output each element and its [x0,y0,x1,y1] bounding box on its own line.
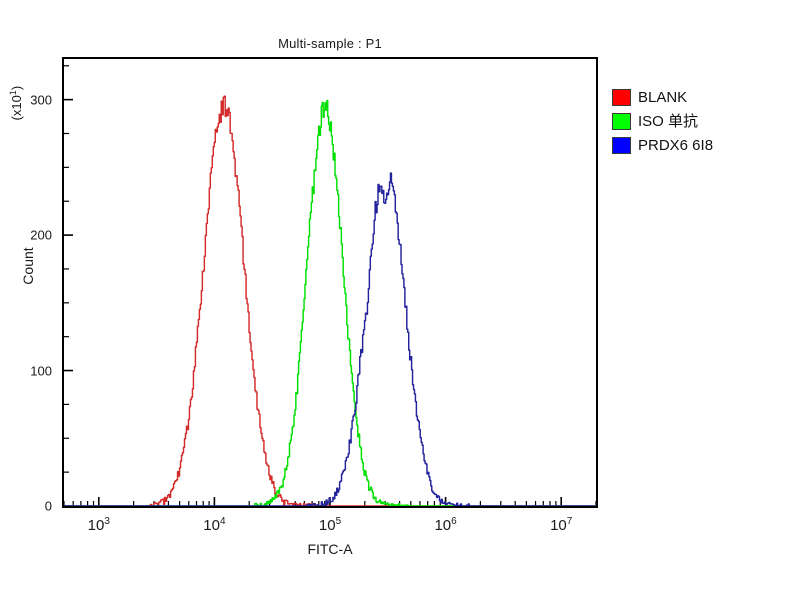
x-tick-exponent: 6 [451,516,457,527]
legend: BLANKISO 单抗PRDX6 6I8 [612,86,713,158]
x-tick-exponent: 5 [336,516,342,527]
histogram-curve [64,173,596,506]
legend-item[interactable]: PRDX6 6I8 [612,134,713,157]
x-axis-title: FITC-A [62,541,598,557]
legend-item[interactable]: BLANK [612,86,713,109]
x-tick-mantissa: 10 [319,517,336,534]
y-tick-label: 300 [0,92,52,107]
legend-color-swatch [612,89,631,106]
y-axis-exponent-close: ) [9,86,24,90]
x-tick-label: 104 [203,516,225,534]
x-tick-exponent: 3 [104,516,110,527]
histogram-curve [64,101,596,506]
x-tick-exponent: 4 [220,516,226,527]
x-tick-mantissa: 10 [434,517,451,534]
legend-color-swatch [612,113,631,130]
y-tick-label: 0 [0,499,52,514]
histogram-curves [64,59,596,506]
chart-title: Multi-sample : P1 [62,36,598,51]
flow-cytometry-histogram: Multi-sample : P1 (x101) Count 010020030… [0,0,800,600]
y-tick-label: 100 [0,363,52,378]
plot-area [62,57,598,508]
x-tick-label: 103 [88,516,110,534]
legend-color-swatch [612,137,631,154]
x-tick-mantissa: 10 [88,517,105,534]
axis-ticks [64,66,596,506]
x-tick-exponent: 7 [567,516,573,527]
histogram-curve [64,96,596,506]
legend-label: BLANK [638,90,687,105]
legend-label: PRDX6 6I8 [638,138,713,153]
x-tick-mantissa: 10 [550,517,567,534]
x-tick-label: 107 [550,516,572,534]
legend-label: ISO 单抗 [638,114,698,129]
y-tick-label: 200 [0,228,52,243]
x-tick-mantissa: 10 [203,517,220,534]
x-tick-label: 106 [434,516,456,534]
x-tick-label: 105 [319,516,341,534]
legend-item[interactable]: ISO 单抗 [612,110,713,133]
